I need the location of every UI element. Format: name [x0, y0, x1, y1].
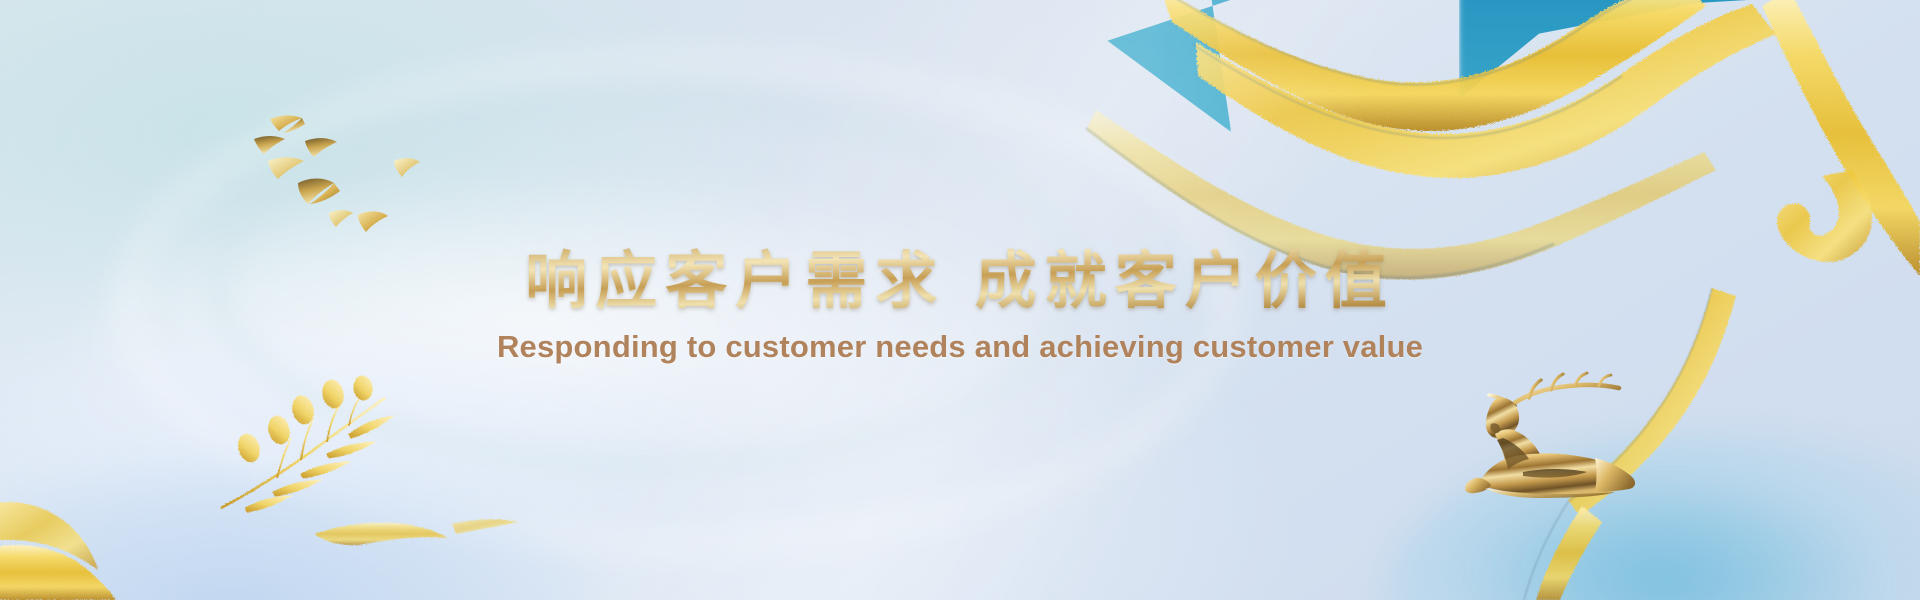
- banner-subtitle: Responding to customer needs and achievi…: [0, 329, 1920, 365]
- banner-headline: 响应客户需求 成就客户价值: [0, 248, 1920, 315]
- hero-banner: 响应客户需求 成就客户价值 Responding to customer nee…: [0, 0, 1920, 600]
- banner-text-block: 响应客户需求 成就客户价值 Responding to customer nee…: [0, 248, 1920, 365]
